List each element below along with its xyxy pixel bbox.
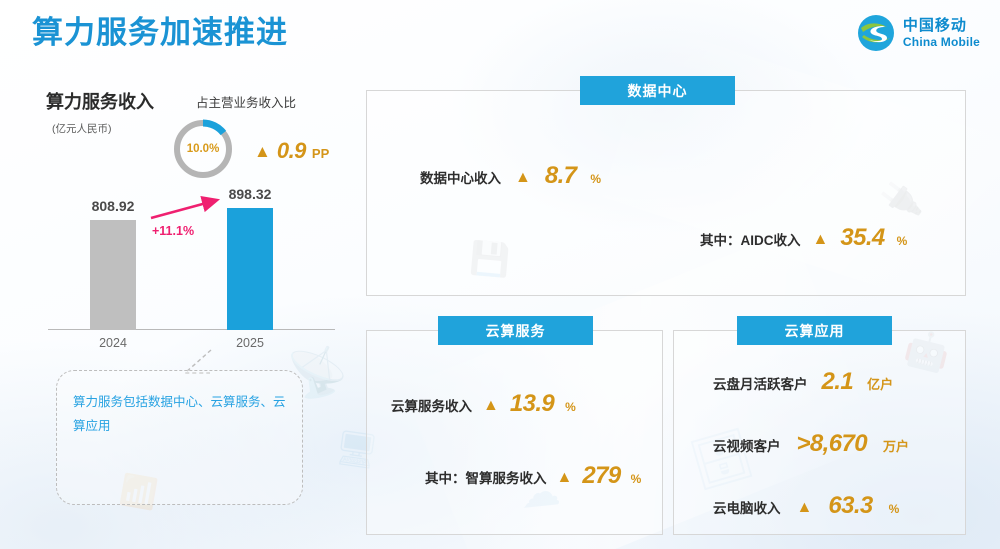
metric-value: 2.1 (822, 368, 854, 396)
ratio-label: 占主营业务收入比 (196, 92, 296, 111)
panel-badge-cloud-compute-application: 云算应用 (737, 316, 892, 345)
logo-text-cn: 中国移动 (903, 18, 980, 33)
growth-arrow-icon (148, 196, 222, 222)
metric-label: 云视频客户 (713, 435, 781, 455)
triangle-up-icon: ▲ (254, 143, 271, 160)
metric-cloud-video-customers: 云视频客户 >8,670 万户 (713, 430, 909, 458)
china-mobile-logo: 中国移动 China Mobile (856, 13, 980, 53)
metric-value: 8.7 (545, 162, 577, 190)
metric-cloud-pc-revenue: 云电脑收入 ▲ 63.3 % (713, 492, 899, 520)
triangle-up-icon: ▲ (797, 500, 813, 516)
panel-data-center (366, 90, 966, 296)
callout-text: 算力服务包括数据中心、云算服务、云算应用 (73, 390, 290, 439)
metric-cloud-disk-mau: 云盘月活跃客户 2.1 亿户 (713, 368, 893, 396)
panel-cloud-compute-service (366, 330, 663, 535)
metric-label: 云算服务收入 (391, 395, 472, 415)
ratio-delta-value: 0.9 (277, 138, 306, 164)
ratio-donut-chart: 10.0% (170, 116, 236, 182)
triangle-up-icon: ▲ (557, 470, 573, 486)
bar-value-2024: 808.92 (92, 198, 135, 214)
metric-unit: 万户 (883, 436, 909, 455)
metric-cloud-service-revenue: 云算服务收入 ▲ 13.9 % (391, 390, 576, 418)
revenue-title: 算力服务收入 (46, 88, 154, 114)
metric-unit: % (631, 472, 642, 486)
page-title: 算力服务加速推进 (32, 16, 288, 50)
metric-value: 279 (582, 462, 620, 490)
metric-unit: % (590, 172, 601, 186)
metric-value: >8,670 (797, 430, 867, 458)
triangle-up-icon: ▲ (813, 232, 829, 248)
bar-tick-2025: 2025 (236, 336, 264, 350)
metric-value: 13.9 (510, 390, 554, 418)
bar-2024: 808.92 2024 (90, 220, 136, 330)
metric-label: 云盘月活跃客户 (713, 373, 808, 393)
metric-aidc-revenue: 其中：AIDC收入 ▲ 35.4 % (700, 224, 907, 252)
callout-box: 算力服务包括数据中心、云算服务、云算应用 (56, 370, 303, 505)
metric-unit: 亿户 (867, 374, 893, 393)
growth-rate-label: +11.1% (152, 224, 194, 238)
bar-tick-2024: 2024 (99, 336, 127, 350)
metric-intelligent-compute-revenue: 其中：智算服务收入 ▲ 279 % (425, 462, 641, 490)
slide-canvas: 📡 🖥 ☁ 🤖 🔌 💾 🗄 📶 算力服务加速推进 中国移动 China Mobi… (0, 0, 1000, 549)
ratio-value: 10.0% (170, 116, 236, 182)
metric-label: 其中：智算服务收入 (425, 467, 547, 487)
panel-badge-cloud-compute-service: 云算服务 (438, 316, 593, 345)
metric-unit: % (889, 502, 900, 516)
panel-badge-data-center: 数据中心 (580, 76, 735, 105)
logo-text-en: China Mobile (903, 36, 980, 48)
bar-value-2025: 898.32 (229, 186, 272, 202)
metric-label: 其中：AIDC收入 (700, 229, 801, 249)
triangle-up-icon: ▲ (515, 170, 531, 186)
logo-wordmark: 中国移动 China Mobile (903, 18, 980, 48)
metric-value: 35.4 (840, 224, 884, 252)
ratio-delta: ▲ 0.9 PP (254, 138, 329, 164)
metric-label: 数据中心收入 (420, 167, 501, 187)
revenue-unit: (亿元人民币) (52, 121, 112, 136)
metric-value: 63.3 (828, 492, 872, 520)
china-mobile-mark-icon (856, 13, 896, 53)
metric-data-center-revenue: 数据中心收入 ▲ 8.7 % (420, 162, 601, 190)
ratio-delta-unit: PP (312, 146, 329, 161)
bar-2025: 898.32 2025 (227, 208, 273, 330)
triangle-up-icon: ▲ (483, 398, 499, 414)
metric-label: 云电脑收入 (713, 497, 781, 517)
metric-unit: % (565, 400, 576, 414)
metric-unit: % (897, 234, 908, 248)
